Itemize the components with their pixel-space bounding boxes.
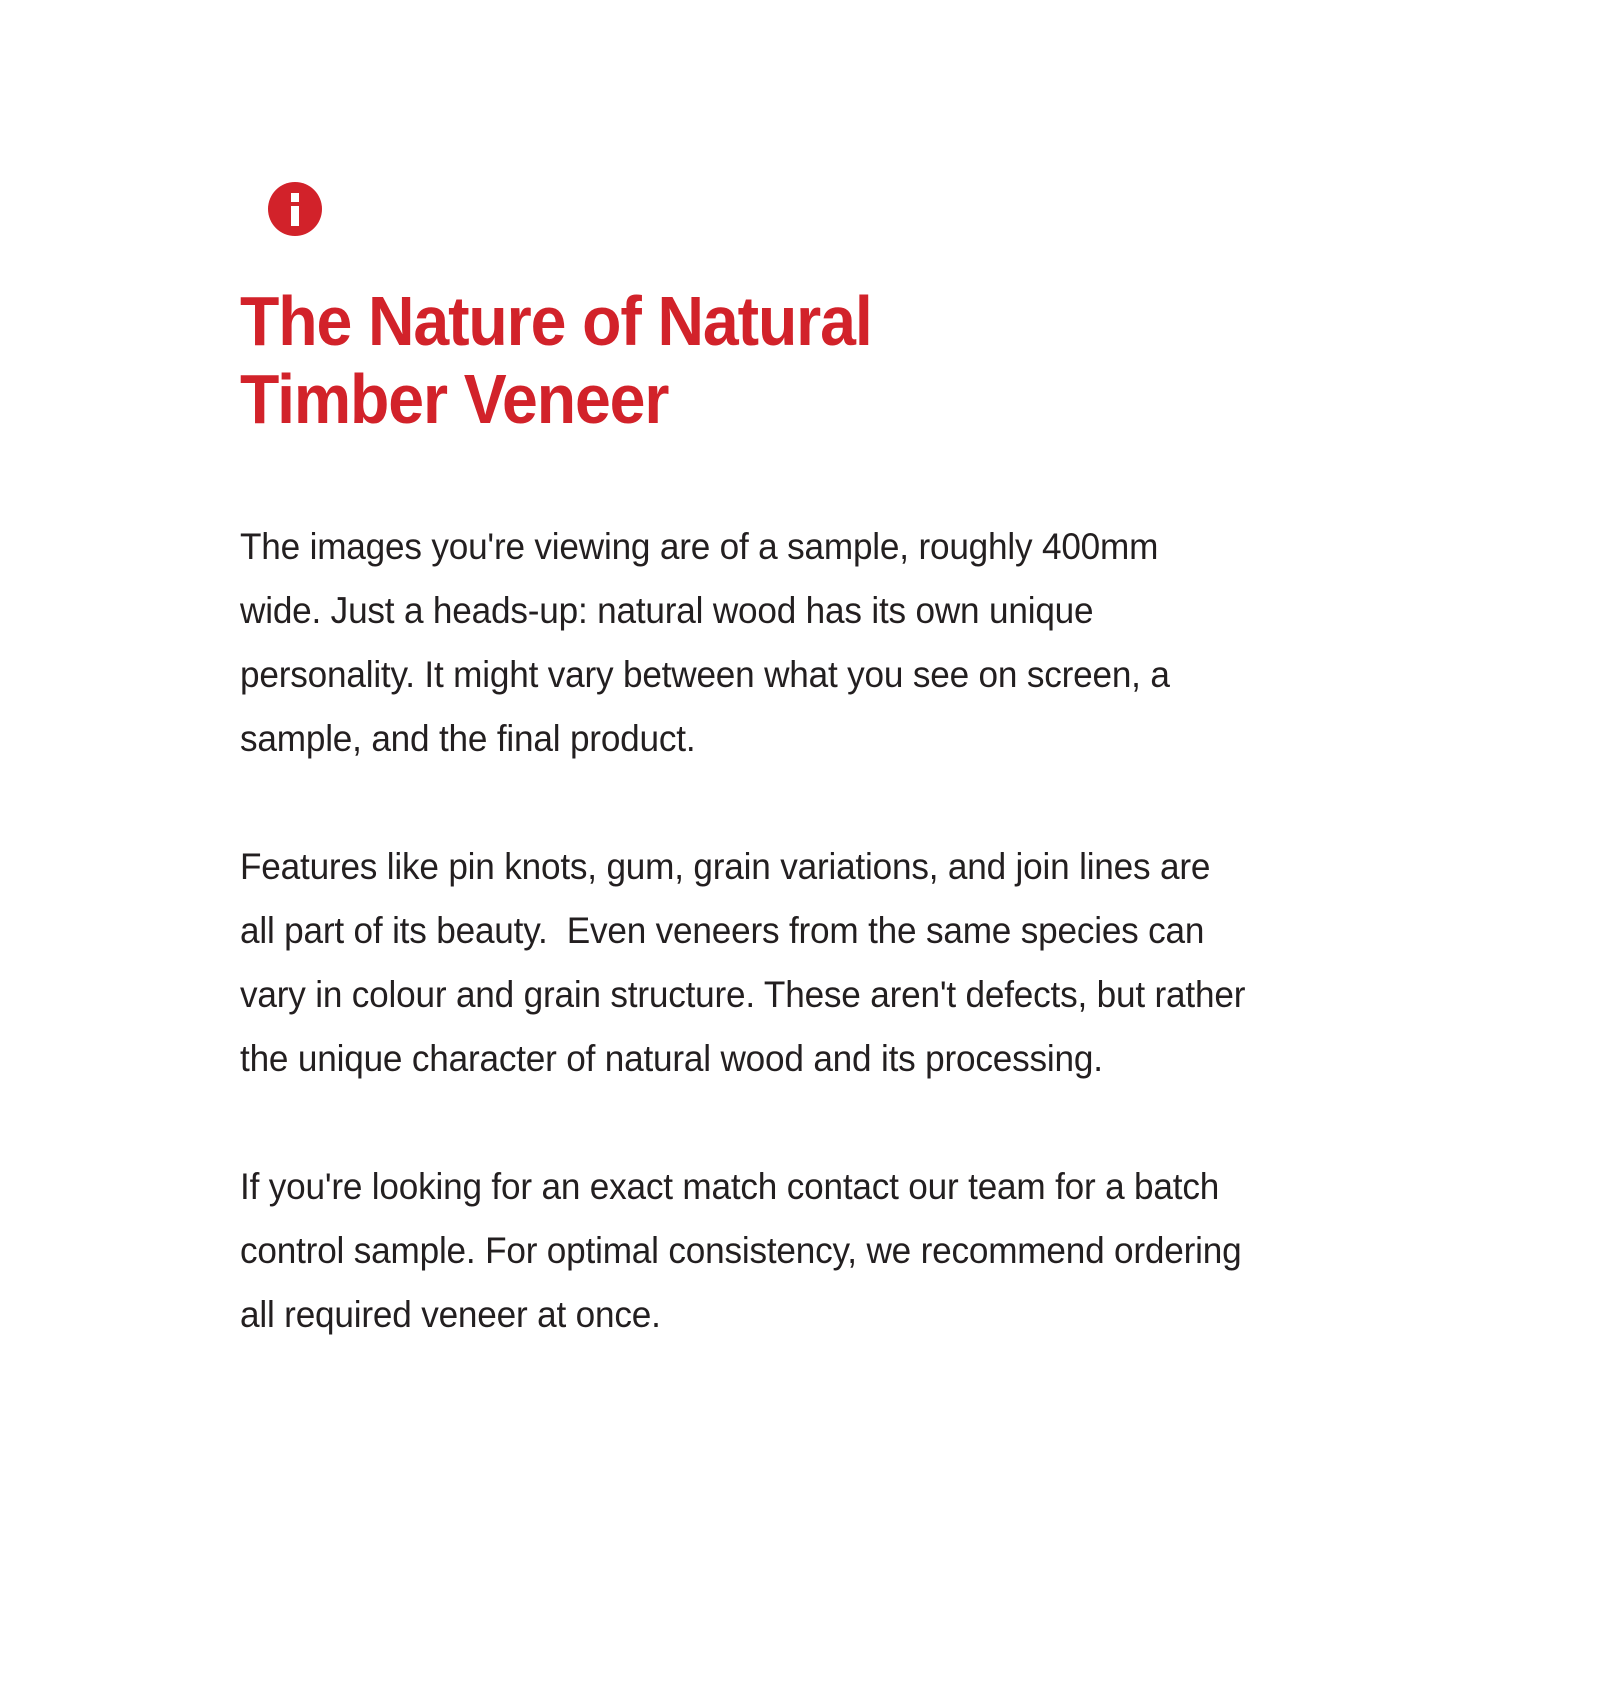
info-panel: The Nature of Natural Timber Veneer The … [0, 0, 1620, 1686]
page-title-line-1: The Nature of Natural [240, 282, 939, 360]
body-copy: The images you're viewing are of a sampl… [240, 515, 1300, 1347]
page-title: The Nature of Natural Timber Veneer [240, 282, 939, 439]
body-paragraph-3: If you're looking for an exact match con… [240, 1155, 1247, 1347]
info-icon-dot [291, 193, 299, 202]
body-paragraph-2: Features like pin knots, gum, grain vari… [240, 835, 1247, 1091]
body-paragraph-1: The images you're viewing are of a sampl… [240, 515, 1247, 771]
info-icon [268, 182, 322, 236]
page-title-line-2: Timber Veneer [240, 360, 939, 438]
info-icon-stem [291, 206, 299, 226]
panel-content: The Nature of Natural Timber Veneer The … [240, 150, 1300, 1347]
